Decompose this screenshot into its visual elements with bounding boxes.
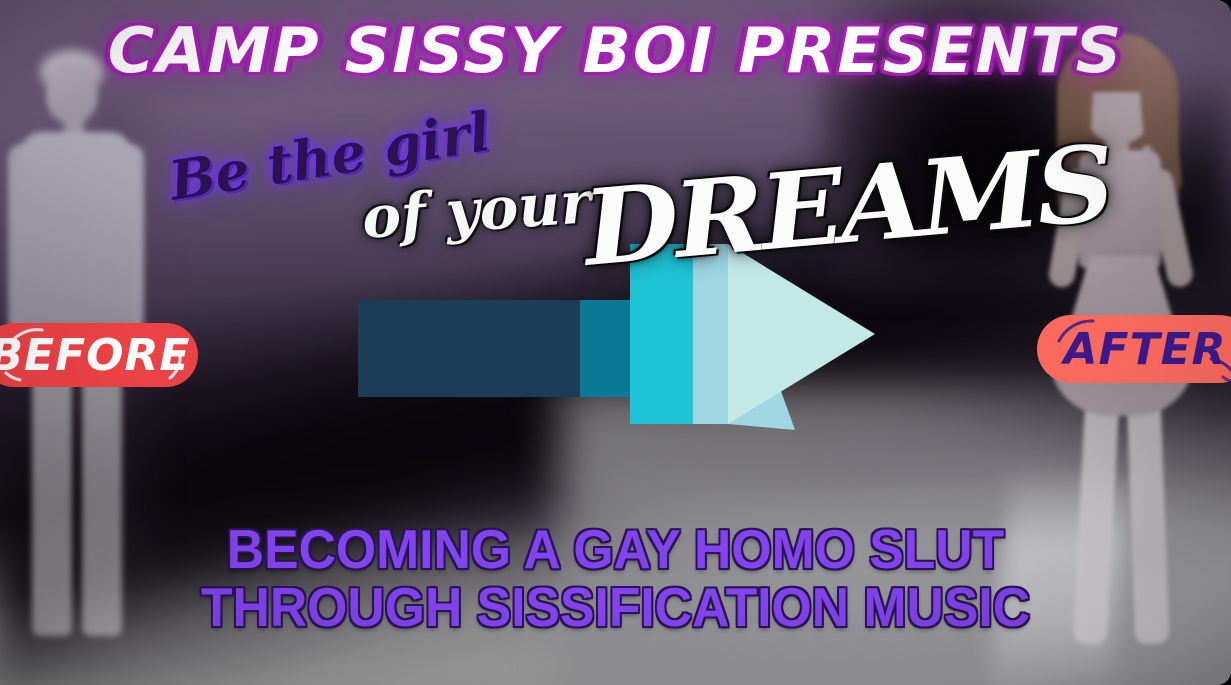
arrow-segment-shaft-dark	[358, 300, 580, 397]
presenter-title: CAMP SISSY BOI PRESENTS	[0, 14, 1231, 87]
before-figure-torso	[20, 132, 132, 342]
after-badge-label: AFTER	[1063, 324, 1226, 375]
video-thumbnail: CAMP SISSY BOI PRESENTS Be the girl of y…	[0, 0, 1231, 685]
caption-line-1: BECOMING A GAY HOMO SLUT	[37, 520, 1194, 578]
before-badge: BEFORE	[0, 323, 198, 387]
before-badge-label: BEFORE	[0, 330, 191, 381]
caption-block: BECOMING A GAY HOMO SLUT THROUGH SISSIFI…	[37, 520, 1194, 636]
after-badge: AFTER	[1037, 315, 1231, 383]
arrow-segment-shaft-teal	[580, 300, 630, 397]
caption-line-2: THROUGH SISSIFICATION MUSIC	[37, 578, 1194, 636]
